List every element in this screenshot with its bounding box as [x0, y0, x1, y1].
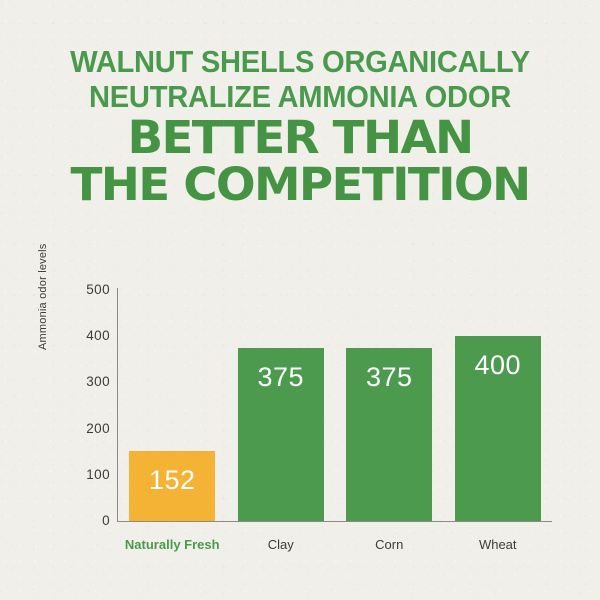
plot-area: 152375375400	[118, 290, 552, 521]
bar-value-label: 375	[238, 362, 324, 393]
bar-wheat: 400	[455, 336, 541, 521]
bar-value-label: 375	[346, 362, 432, 393]
x-axis-line	[117, 521, 552, 522]
category-label-corn: Corn	[335, 537, 444, 552]
y-tick-100: 100	[64, 467, 110, 482]
y-axis-title: Ammonia odor levels	[37, 210, 49, 350]
bar-naturally-fresh: 152	[129, 451, 215, 521]
bar-corn: 375	[346, 348, 432, 521]
bar-chart: Ammonia odor levels 0100200300400500 152…	[0, 0, 600, 600]
bar-value-label: 152	[129, 465, 215, 496]
category-label-clay: Clay	[227, 537, 336, 552]
bar-clay: 375	[238, 348, 324, 521]
y-tick-200: 200	[64, 421, 110, 436]
category-label-naturally-fresh: Naturally Fresh	[118, 537, 227, 552]
y-tick-300: 300	[64, 374, 110, 389]
bar-value-label: 400	[455, 350, 541, 381]
y-tick-500: 500	[64, 282, 110, 297]
y-axis-tick-labels: 0100200300400500	[55, 0, 110, 600]
y-tick-400: 400	[64, 328, 110, 343]
y-tick-0: 0	[64, 513, 110, 528]
category-label-wheat: Wheat	[444, 537, 553, 552]
